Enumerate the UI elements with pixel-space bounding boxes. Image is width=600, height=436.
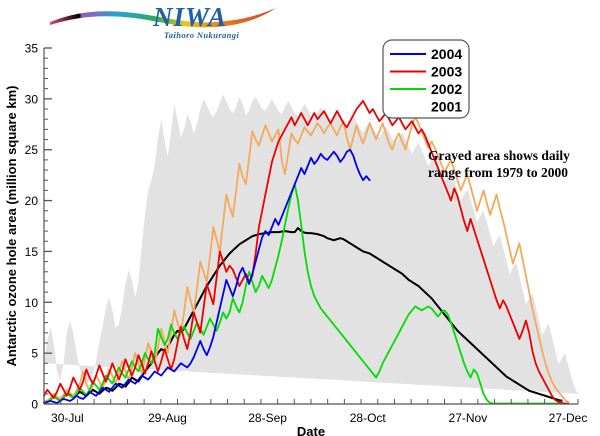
y-tick-label: 5 bbox=[31, 347, 38, 361]
legend-label-2003[interactable]: 2003 bbox=[431, 64, 462, 80]
y-tick-label: 15 bbox=[25, 245, 39, 259]
legend-label-2002[interactable]: 2002 bbox=[431, 81, 462, 97]
x-tick-label: 30-Jul bbox=[51, 411, 84, 425]
legend-label-2001[interactable]: 2001 bbox=[431, 99, 462, 115]
x-tick-label: 28-Sep bbox=[248, 411, 287, 425]
x-tick-label: 29-Aug bbox=[148, 411, 187, 425]
y-tick-label: 0 bbox=[31, 398, 38, 412]
y-tick-label: 20 bbox=[25, 194, 39, 208]
x-tick-label: 27-Dec bbox=[549, 411, 588, 425]
x-tick-label: 27-Nov bbox=[449, 411, 488, 425]
y-tick-label: 10 bbox=[25, 296, 39, 310]
y-axis-title: Antarctic ozone hole area (million squar… bbox=[4, 85, 19, 366]
chart-canvas: 0510152025303530-Jul29-Aug28-Sep28-Oct27… bbox=[0, 0, 600, 436]
y-tick-label: 25 bbox=[25, 143, 39, 157]
annotation-line-1: Grayed area shows daily bbox=[428, 148, 570, 163]
ozone-hole-chart-page: NIWA Taihoro Nukurangi 0510152025303530-… bbox=[0, 0, 600, 436]
x-axis-title: Date bbox=[297, 424, 325, 436]
y-tick-label: 30 bbox=[25, 92, 39, 106]
daily-range-band bbox=[44, 95, 578, 394]
legend-label-2004[interactable]: 2004 bbox=[431, 46, 462, 62]
x-tick-label: 28-Oct bbox=[350, 411, 387, 425]
annotation-line-2: range from 1979 to 2000 bbox=[428, 165, 568, 180]
y-tick-label: 35 bbox=[25, 42, 39, 56]
